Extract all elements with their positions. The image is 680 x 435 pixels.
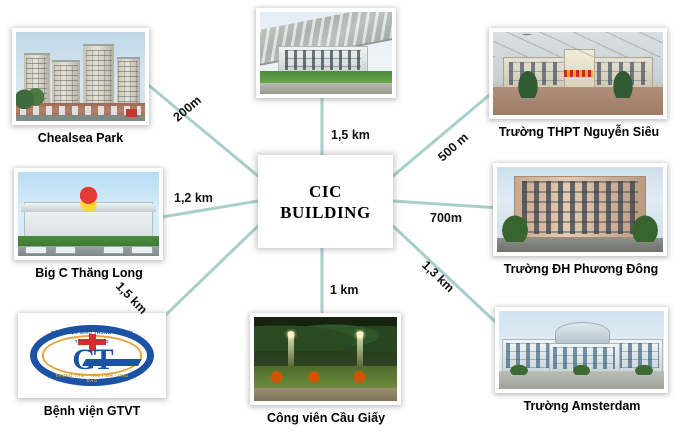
node-chealsea-park[interactable]: Chealsea Park xyxy=(12,28,149,145)
distance-cong-vien-cau-giay: 1 km xyxy=(330,283,359,297)
caption-cong-vien-cau-giay: Công viên Cầu Giấy xyxy=(250,411,402,425)
line-to-chealsea-park xyxy=(146,83,258,176)
thpt-nguyen-sieu-illustration xyxy=(493,32,663,115)
node-truong-amsterdam[interactable]: Trường Amsterdam xyxy=(495,307,669,413)
hub-label: CIC BUILDING xyxy=(280,181,371,223)
photo-benh-vien-gtvt: BỆNH VIỆN GIAO THÔNG VẬN TẢI TRUNG ƯƠNG … xyxy=(18,313,166,398)
distance-dh-phuong-dong: 700m xyxy=(430,211,462,225)
node-thpt-nguyen-sieu[interactable]: Trường THPT Nguyễn Siêu xyxy=(489,28,669,139)
caption-chealsea-park: Chealsea Park xyxy=(12,131,149,145)
photo-dh-phuong-dong xyxy=(493,163,667,256)
caption-benh-vien-gtvt: Bệnh viện GTVT xyxy=(18,404,166,418)
big-c-illustration xyxy=(18,172,159,256)
photo-chealsea-park xyxy=(12,28,149,125)
dh-phuong-dong-illustration xyxy=(497,167,663,252)
cic-main-illustration xyxy=(260,12,392,94)
caption-thpt-nguyen-sieu: Trường THPT Nguyễn Siêu xyxy=(489,125,669,139)
chealsea-park-illustration xyxy=(16,32,145,121)
hub-cic-building: CIC BUILDING xyxy=(258,155,393,248)
caption-dh-phuong-dong: Trường ĐH Phương Đông xyxy=(493,262,669,276)
benh-vien-gtvt-logo: BỆNH VIỆN GIAO THÔNG VẬN TẢI TRUNG ƯƠNG … xyxy=(22,317,162,394)
caption-truong-amsterdam: Trường Amsterdam xyxy=(495,399,669,413)
node-benh-vien-gtvt[interactable]: BỆNH VIỆN GIAO THÔNG VẬN TẢI TRUNG ƯƠNG … xyxy=(18,313,166,418)
location-diagram: CIC BUILDING Chealsea Park 200m xyxy=(0,0,680,435)
photo-big-c-thang-long xyxy=(14,168,163,260)
distance-thpt-nguyen-sieu: 500 m xyxy=(435,130,471,164)
line-to-dh-phuong-dong xyxy=(393,201,500,208)
distance-big-c-thang-long: 1,2 km xyxy=(174,191,213,205)
photo-truong-amsterdam xyxy=(495,307,668,393)
node-cong-vien-cau-giay[interactable]: Công viên Cầu Giấy xyxy=(250,313,402,425)
cong-vien-illustration xyxy=(254,317,397,401)
distance-truong-amsterdam: 1,3 km xyxy=(419,258,457,295)
node-big-c-thang-long[interactable]: Big C Thăng Long xyxy=(14,168,164,280)
distance-cic-main: 1,5 km xyxy=(331,128,370,142)
photo-cic-main xyxy=(256,8,396,98)
distance-benh-vien-gtvt: 1,5 km xyxy=(113,279,150,317)
photo-thpt-nguyen-sieu xyxy=(489,28,667,119)
node-cic-main[interactable] xyxy=(256,8,396,98)
caption-big-c-thang-long: Big C Thăng Long xyxy=(14,266,164,280)
node-dh-phuong-dong[interactable]: Trường ĐH Phương Đông xyxy=(493,163,669,276)
photo-cong-vien-cau-giay xyxy=(250,313,401,405)
gtvt-arc-bottom-text: TRUNG TÂM - TẬN TÌNH - CHU ĐÁO xyxy=(50,373,134,384)
distance-chealsea-park: 200m xyxy=(171,93,205,124)
amsterdam-illustration xyxy=(499,311,664,389)
